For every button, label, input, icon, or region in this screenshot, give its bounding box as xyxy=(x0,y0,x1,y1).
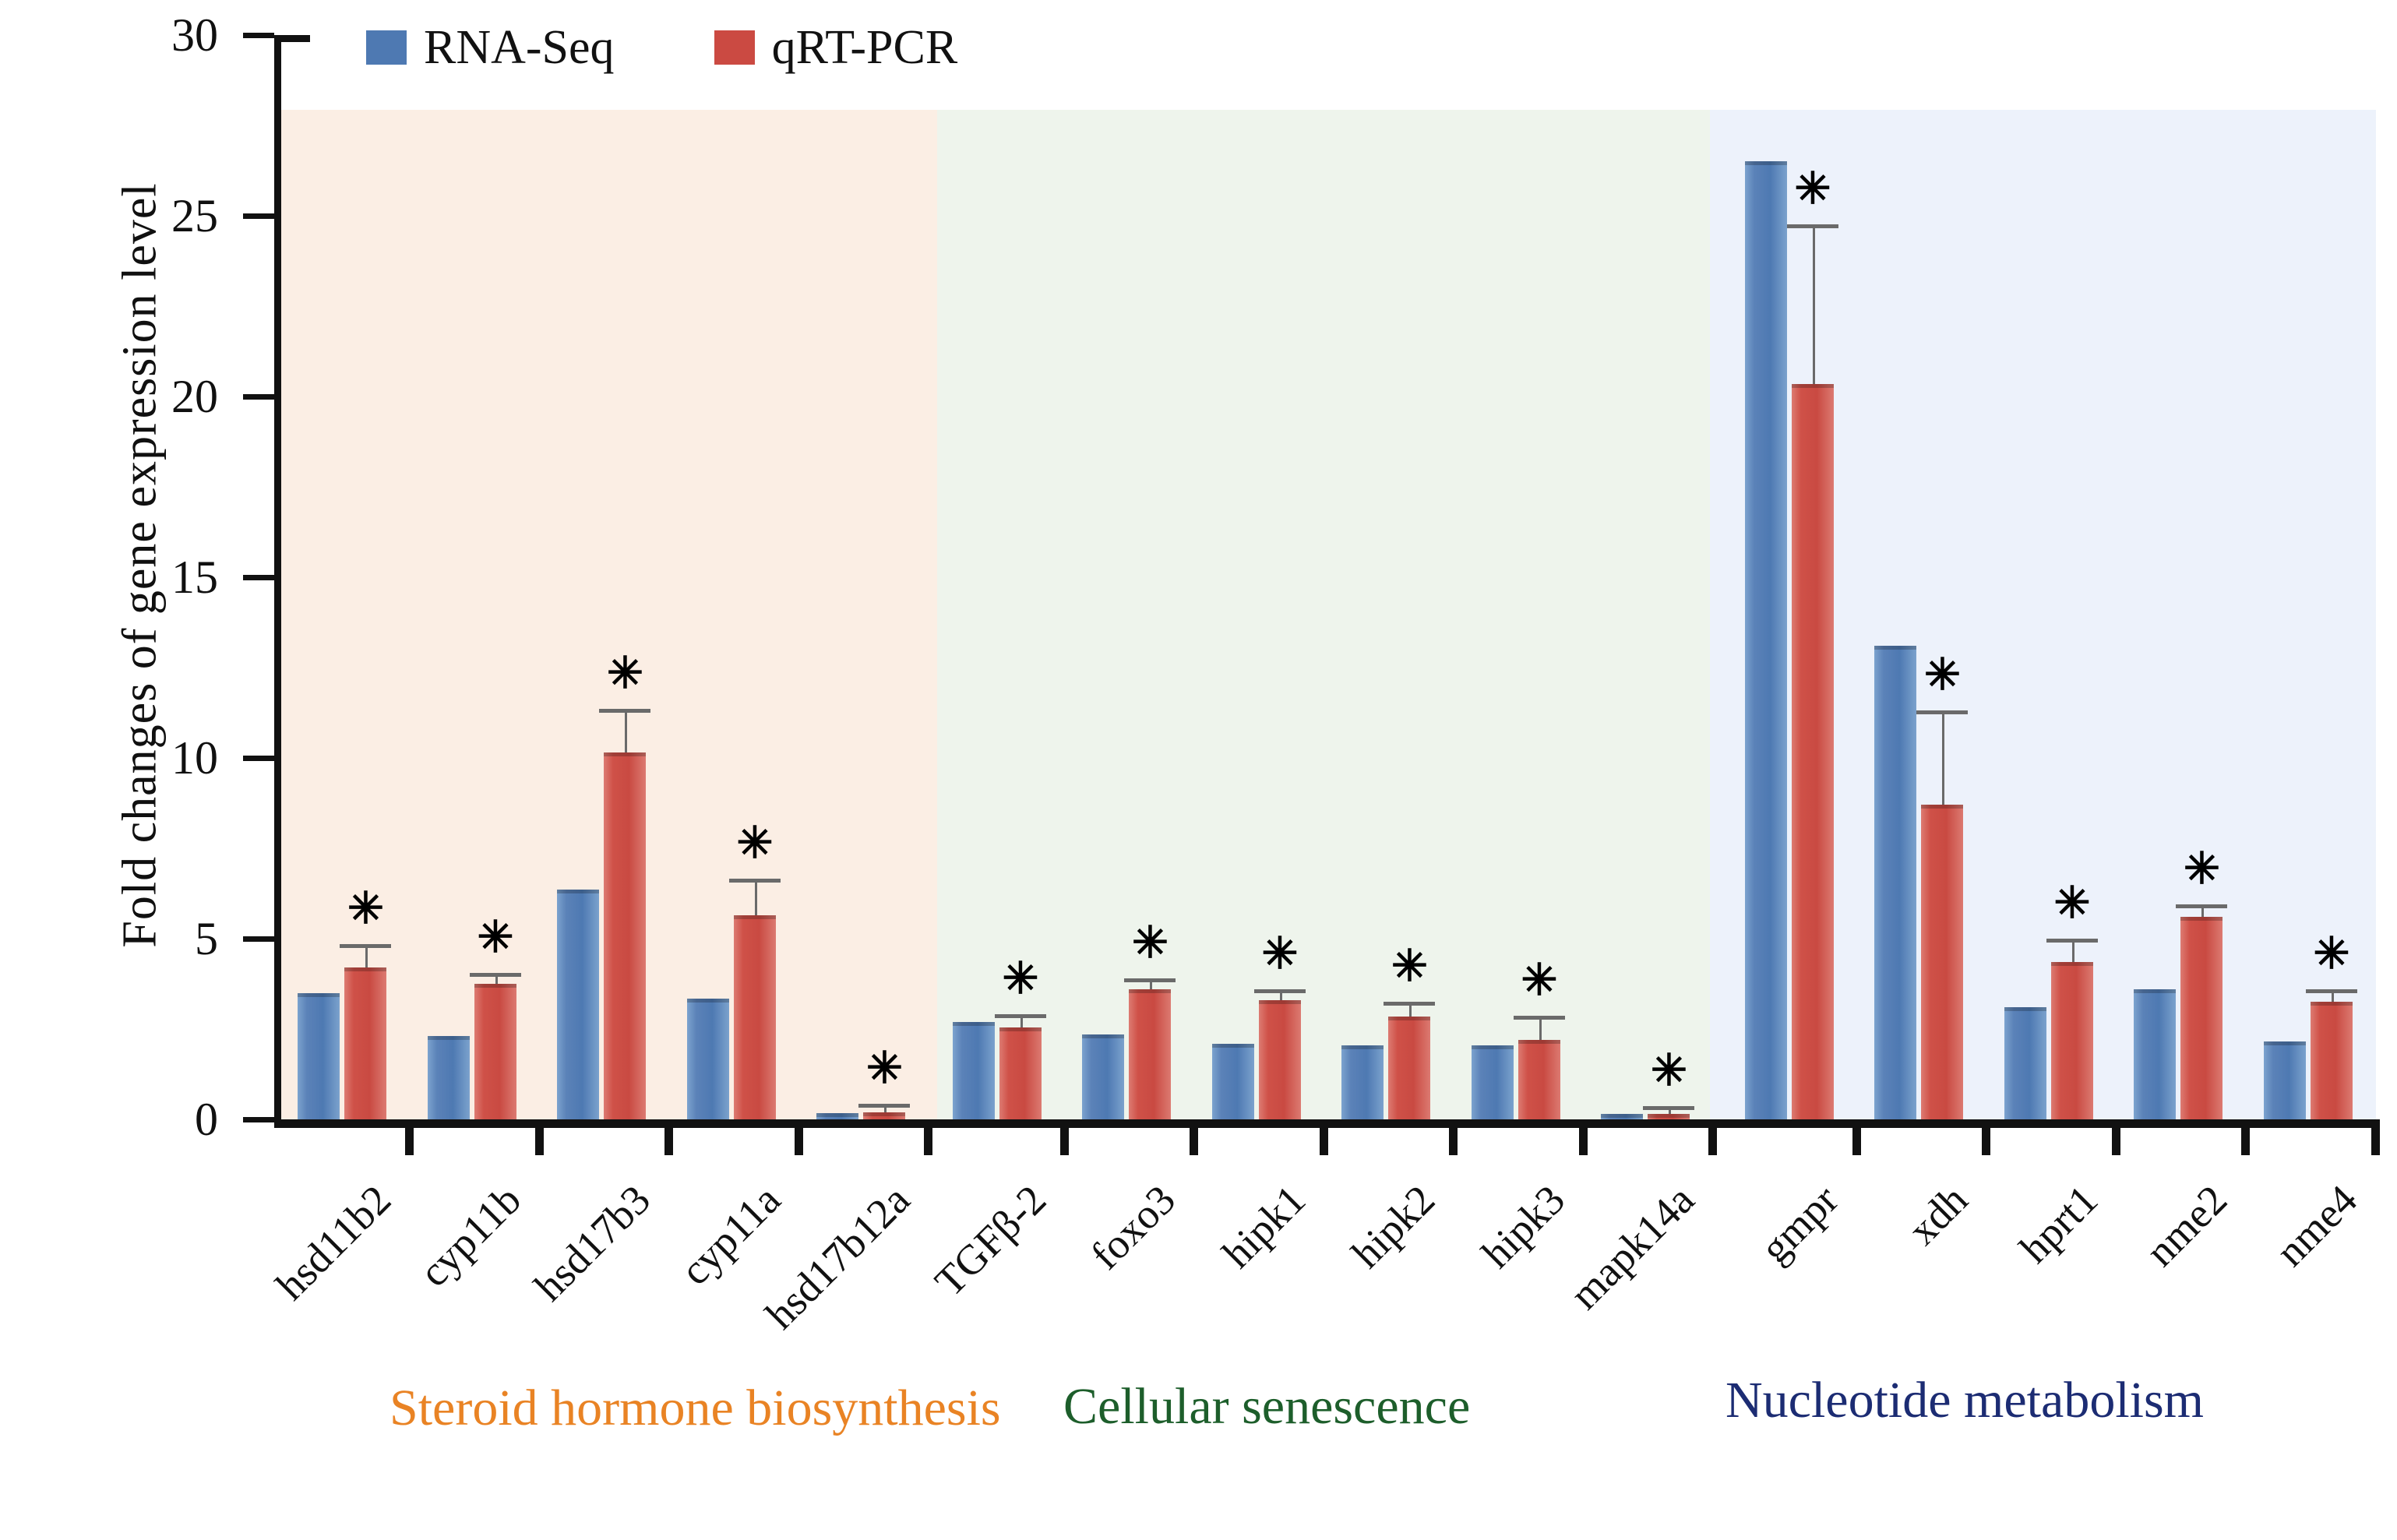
x-tick xyxy=(1852,1119,1861,1155)
error-bar-cap xyxy=(2046,939,2098,943)
bar-top-cap xyxy=(1472,1045,1514,1049)
x-tick xyxy=(1579,1119,1588,1155)
plot-area: ✳✳✳✳✳✳✳✳✳✳✳✳✳✳✳✳ xyxy=(274,35,2376,1119)
error-bar-cap xyxy=(1124,978,1176,982)
bar-group: ✳ xyxy=(1082,35,1176,1119)
x-tick xyxy=(1060,1119,1069,1155)
error-bar-stem xyxy=(2072,943,2074,963)
bar-group: ✳ xyxy=(953,35,1046,1119)
x-tick xyxy=(405,1119,414,1155)
y-tick-20 xyxy=(243,394,274,400)
bar-top-cap xyxy=(1082,1034,1124,1038)
significance-asterisk: ✳ xyxy=(607,652,643,696)
error-bar-stem xyxy=(365,948,368,968)
significance-asterisk: ✳ xyxy=(478,916,514,960)
x-tick xyxy=(1708,1119,1717,1155)
bar-rna-seq[interactable] xyxy=(687,999,729,1119)
bar-top-cap xyxy=(734,915,776,919)
error-bar-stem xyxy=(1409,1006,1412,1017)
error-bar-stem xyxy=(884,1108,887,1112)
significance-asterisk: ✳ xyxy=(2184,848,2220,891)
pathway-caption: Steroid hormone biosynthesis xyxy=(390,1379,1001,1438)
bar-rna-seq[interactable] xyxy=(2004,1007,2046,1119)
bar-rna-seq[interactable] xyxy=(953,1022,995,1119)
error-bar-cap xyxy=(1514,1016,1565,1020)
significance-asterisk: ✳ xyxy=(2314,932,2350,976)
significance-asterisk: ✳ xyxy=(1003,957,1039,1001)
legend-label: qRT-PCR xyxy=(772,23,958,72)
y-tick-label-25: 25 xyxy=(93,188,218,244)
x-tick xyxy=(2241,1119,2250,1155)
y-tick-25 xyxy=(243,213,274,219)
bar-top-cap xyxy=(863,1112,905,1116)
bar-qrt-pcr[interactable] xyxy=(1388,1017,1430,1119)
bar-top-cap xyxy=(344,967,386,971)
y-tick-5 xyxy=(243,936,274,942)
bar-qrt-pcr[interactable] xyxy=(474,984,516,1119)
bar-top-cap xyxy=(816,1113,858,1117)
error-bar-cap xyxy=(1254,989,1306,993)
error-bar-stem xyxy=(2332,993,2334,1003)
y-tick-label-20: 20 xyxy=(93,368,218,425)
x-tick xyxy=(795,1119,803,1155)
bar-top-cap xyxy=(1341,1045,1384,1049)
bar-group: ✳ xyxy=(298,35,391,1119)
bar-group: ✳ xyxy=(1212,35,1306,1119)
bar-rna-seq[interactable] xyxy=(1745,161,1787,1119)
bar-rna-seq[interactable] xyxy=(1874,646,1916,1119)
bar-top-cap xyxy=(1874,646,1916,650)
significance-asterisk: ✳ xyxy=(1391,945,1428,988)
bar-rna-seq[interactable] xyxy=(428,1036,470,1119)
significance-asterisk: ✳ xyxy=(1795,167,1831,211)
bar-rna-seq[interactable] xyxy=(1472,1045,1514,1119)
bar-top-cap xyxy=(2051,962,2093,966)
error-bar-stem xyxy=(495,977,498,984)
significance-asterisk: ✳ xyxy=(866,1047,903,1091)
y-axis-line xyxy=(274,35,281,1119)
error-bar-cap xyxy=(2176,904,2227,908)
bar-top-cap xyxy=(298,993,340,997)
x-tick xyxy=(664,1119,673,1155)
bar-top-cap xyxy=(1129,989,1171,993)
bar-group: ✳ xyxy=(1745,35,1838,1119)
bar-top-cap xyxy=(604,752,646,756)
bar-top-cap xyxy=(1212,1044,1254,1048)
significance-asterisk: ✳ xyxy=(737,822,774,865)
error-bar-cap xyxy=(340,944,391,948)
error-bar-stem xyxy=(625,713,627,752)
error-bar-cap xyxy=(599,709,650,713)
error-bar-cap xyxy=(1384,1002,1435,1006)
bar-qrt-pcr[interactable] xyxy=(1648,1114,1690,1119)
bar-top-cap xyxy=(2264,1041,2306,1045)
bar-qrt-pcr[interactable] xyxy=(999,1027,1042,1119)
x-tick xyxy=(1320,1119,1328,1155)
error-bar-stem xyxy=(1280,993,1282,1000)
bar-top-cap xyxy=(999,1027,1042,1031)
bar-top-cap xyxy=(1648,1114,1690,1118)
error-bar-cap xyxy=(995,1014,1046,1018)
bar-group: ✳ xyxy=(1472,35,1565,1119)
bar-top-cap xyxy=(953,1022,995,1026)
bar-group: ✳ xyxy=(2134,35,2227,1119)
significance-asterisk: ✳ xyxy=(1924,654,1961,697)
bar-qrt-pcr[interactable] xyxy=(2180,917,2223,1119)
legend-item[interactable]: RNA-Seq xyxy=(366,23,615,72)
bar-rna-seq[interactable] xyxy=(298,993,340,1119)
bar-group: ✳ xyxy=(428,35,521,1119)
bar-qrt-pcr[interactable] xyxy=(2311,1002,2353,1119)
bar-group: ✳ xyxy=(2264,35,2357,1119)
bar-qrt-pcr[interactable] xyxy=(1518,1040,1560,1119)
y-tick-label-5: 5 xyxy=(93,911,218,967)
y-tick-label-15: 15 xyxy=(93,549,218,605)
x-tick xyxy=(2371,1119,2380,1155)
bar-group: ✳ xyxy=(1874,35,1968,1119)
bar-top-cap xyxy=(1921,805,1963,809)
x-tick xyxy=(1449,1119,1458,1155)
error-bar-cap xyxy=(729,879,781,883)
bar-group: ✳ xyxy=(2004,35,2098,1119)
y-tick-label-30: 30 xyxy=(93,7,218,63)
bar-top-cap xyxy=(2134,989,2176,993)
error-bar-stem xyxy=(2201,908,2204,918)
bar-top-cap xyxy=(1601,1114,1643,1118)
bar-top-cap xyxy=(1745,161,1787,165)
bar-qrt-pcr[interactable] xyxy=(863,1112,905,1119)
significance-asterisk: ✳ xyxy=(2054,882,2091,925)
error-bar-cap xyxy=(858,1104,910,1108)
bar-top-cap xyxy=(1518,1040,1560,1044)
significance-asterisk: ✳ xyxy=(1262,932,1299,976)
error-bar-stem xyxy=(1813,228,1815,384)
bar-rna-seq[interactable] xyxy=(557,890,599,1119)
figure-bar-chart: Fold changes of gene expression level 05… xyxy=(0,0,2397,1468)
y-tick-30 xyxy=(243,33,274,38)
bar-qrt-pcr[interactable] xyxy=(344,967,386,1119)
error-bar-stem xyxy=(1669,1110,1671,1114)
legend-swatch xyxy=(366,30,407,65)
bar-group: ✳ xyxy=(1341,35,1435,1119)
y-tick-label-0: 0 xyxy=(93,1091,218,1147)
bar-group: ✳ xyxy=(687,35,781,1119)
legend-item[interactable]: qRT-PCR xyxy=(714,23,958,72)
bar-top-cap xyxy=(2004,1007,2046,1011)
bar-rna-seq[interactable] xyxy=(2134,989,2176,1119)
bar-qrt-pcr[interactable] xyxy=(604,752,646,1119)
x-tick xyxy=(1190,1119,1198,1155)
pathway-caption: Nucleotide metabolism xyxy=(1725,1371,2204,1430)
significance-asterisk: ✳ xyxy=(347,887,384,931)
x-tick xyxy=(2112,1119,2120,1155)
legend-swatch xyxy=(714,30,755,65)
error-bar-stem xyxy=(1020,1018,1023,1027)
y-tick-0 xyxy=(243,1117,274,1122)
bar-top-cap xyxy=(474,984,516,988)
significance-asterisk: ✳ xyxy=(1651,1049,1687,1093)
bar-group: ✳ xyxy=(557,35,650,1119)
pathway-caption: Cellular senescence xyxy=(1063,1377,1470,1436)
error-bar-stem xyxy=(1539,1020,1542,1040)
x-tick xyxy=(1982,1119,1990,1155)
bar-top-cap xyxy=(1259,1000,1301,1004)
bar-qrt-pcr[interactable] xyxy=(1129,989,1171,1119)
bar-top-cap xyxy=(1792,384,1834,388)
x-tick xyxy=(535,1119,544,1155)
bar-top-cap xyxy=(687,999,729,1003)
bar-group: ✳ xyxy=(1601,35,1694,1119)
error-bar-stem xyxy=(1150,982,1152,989)
bar-top-cap xyxy=(557,890,599,893)
bar-top-cap xyxy=(1388,1017,1430,1020)
bar-rna-seq[interactable] xyxy=(2264,1041,2306,1119)
error-bar-cap xyxy=(470,973,521,977)
error-bar-cap xyxy=(1916,710,1968,714)
significance-asterisk: ✳ xyxy=(1521,959,1558,1003)
bar-group: ✳ xyxy=(816,35,910,1119)
bar-qrt-pcr[interactable] xyxy=(1792,384,1834,1119)
bar-qrt-pcr[interactable] xyxy=(2051,962,2093,1119)
bar-rna-seq[interactable] xyxy=(1601,1114,1643,1119)
bar-rna-seq[interactable] xyxy=(1212,1044,1254,1119)
x-tick xyxy=(924,1119,932,1155)
bar-top-cap xyxy=(428,1036,470,1040)
bar-qrt-pcr[interactable] xyxy=(1259,1000,1301,1119)
bar-rna-seq[interactable] xyxy=(1341,1045,1384,1119)
bar-qrt-pcr[interactable] xyxy=(734,915,776,1119)
legend: RNA-SeqqRT-PCR xyxy=(366,23,1031,72)
y-tick-label-10: 10 xyxy=(93,730,218,786)
bar-rna-seq[interactable] xyxy=(816,1113,858,1119)
bar-top-cap xyxy=(2180,917,2223,921)
y-tick-15 xyxy=(243,575,274,580)
error-bar-stem xyxy=(755,883,757,915)
error-bar-cap xyxy=(2306,989,2357,993)
error-bar-cap xyxy=(1643,1106,1694,1110)
y-tick-10 xyxy=(243,756,274,761)
error-bar-stem xyxy=(1942,714,1944,805)
bar-top-cap xyxy=(2311,1002,2353,1006)
panel-cellular-senescence xyxy=(937,110,1710,1119)
bar-rna-seq[interactable] xyxy=(1082,1034,1124,1119)
significance-asterisk: ✳ xyxy=(1132,922,1169,965)
error-bar-cap xyxy=(1787,224,1838,228)
legend-label: RNA-Seq xyxy=(424,23,615,72)
bar-qrt-pcr[interactable] xyxy=(1921,805,1963,1119)
